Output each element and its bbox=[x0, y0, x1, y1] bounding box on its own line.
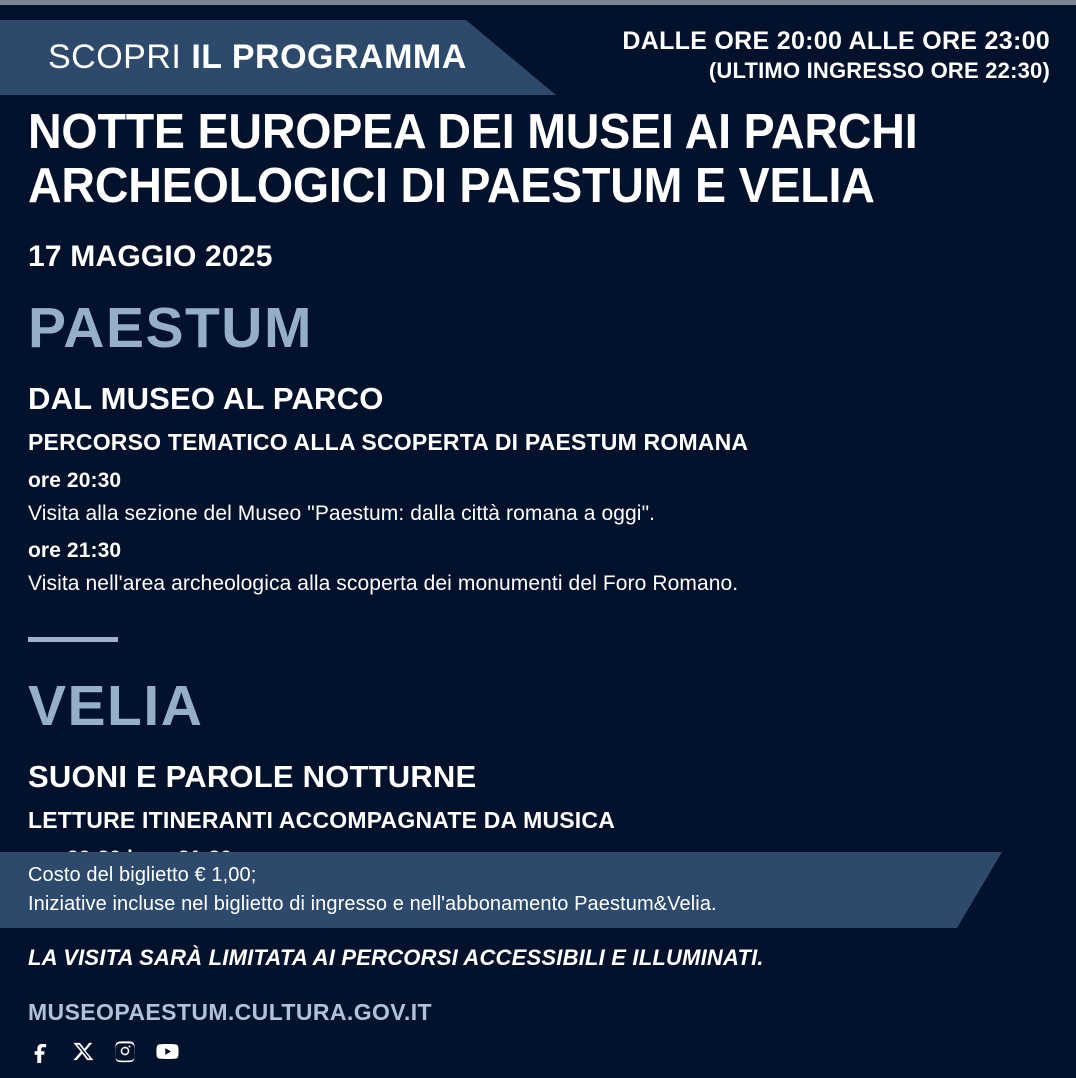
opening-hours-block: DALLE ORE 20:00 ALLE ORE 23:00 (ULTIMO I… bbox=[622, 27, 1050, 84]
section-divider bbox=[28, 637, 118, 642]
x-twitter-icon[interactable] bbox=[70, 1038, 96, 1064]
social-links bbox=[28, 1038, 1048, 1064]
paestum-time-2: ore 21:30 bbox=[28, 539, 1048, 563]
youtube-icon[interactable] bbox=[154, 1038, 180, 1064]
discover-program-label-thin: SCOPRI bbox=[48, 38, 191, 76]
last-entry-note: (ULTIMO INGRESSO ORE 22:30) bbox=[622, 57, 1050, 85]
poster-content: NOTTE EUROPEA DEI MUSEI AI PARCHI ARCHEO… bbox=[0, 105, 1076, 871]
site-name-paestum: PAESTUM bbox=[28, 300, 1048, 357]
facebook-icon[interactable] bbox=[28, 1038, 54, 1064]
website-link[interactable]: MUSEOPAESTUM.CULTURA.GOV.IT bbox=[28, 999, 1048, 1026]
section-subheading-paestum: PERCORSO TEMATICO ALLA SCOPERTA DI PAEST… bbox=[28, 429, 1048, 456]
paestum-desc-1: Visita alla sezione del Museo "Paestum: … bbox=[28, 502, 1048, 526]
poster-root: SCOPRI IL PROGRAMMA DALLE ORE 20:00 ALLE… bbox=[0, 0, 1076, 1078]
discover-program-label: SCOPRI IL PROGRAMMA bbox=[48, 38, 467, 77]
paestum-desc-2: Visita nell'area archeologica alla scope… bbox=[28, 572, 1048, 596]
ticket-price-banner: Costo del biglietto € 1,00; Iniziative i… bbox=[0, 852, 1002, 928]
poster-footer: LA VISITA SARÀ LIMITATA AI PERCORSI ACCE… bbox=[0, 945, 1076, 1064]
accessibility-note: LA VISITA SARÀ LIMITATA AI PERCORSI ACCE… bbox=[28, 945, 1048, 971]
section-heading-paestum: DAL MUSEO AL PARCO bbox=[28, 381, 1048, 417]
ticket-included-line: Iniziative incluse nel biglietto di ingr… bbox=[28, 890, 1002, 919]
section-heading-velia: SUONI E PAROLE NOTTURNE bbox=[28, 759, 1048, 795]
ticket-price-line: Costo del biglietto € 1,00; bbox=[28, 861, 1002, 890]
paestum-time-1: ore 20:30 bbox=[28, 469, 1048, 493]
event-date: 17 MAGGIO 2025 bbox=[28, 240, 1048, 274]
opening-hours-main: DALLE ORE 20:00 ALLE ORE 23:00 bbox=[622, 27, 1050, 57]
site-name-velia: VELIA bbox=[28, 678, 1048, 735]
page-title: NOTTE EUROPEA DEI MUSEI AI PARCHI ARCHEO… bbox=[28, 105, 997, 214]
section-velia: VELIA SUONI E PAROLE NOTTURNE LETTURE IT… bbox=[28, 678, 1048, 871]
instagram-icon[interactable] bbox=[112, 1038, 138, 1064]
section-subheading-velia: LETTURE ITINERANTI ACCOMPAGNATE DA MUSIC… bbox=[28, 807, 1048, 834]
discover-program-banner[interactable]: SCOPRI IL PROGRAMMA bbox=[0, 20, 556, 95]
discover-program-label-bold: IL PROGRAMMA bbox=[191, 38, 466, 76]
poster-header: SCOPRI IL PROGRAMMA DALLE ORE 20:00 ALLE… bbox=[0, 5, 1076, 95]
section-paestum: PAESTUM DAL MUSEO AL PARCO PERCORSO TEMA… bbox=[28, 300, 1048, 596]
